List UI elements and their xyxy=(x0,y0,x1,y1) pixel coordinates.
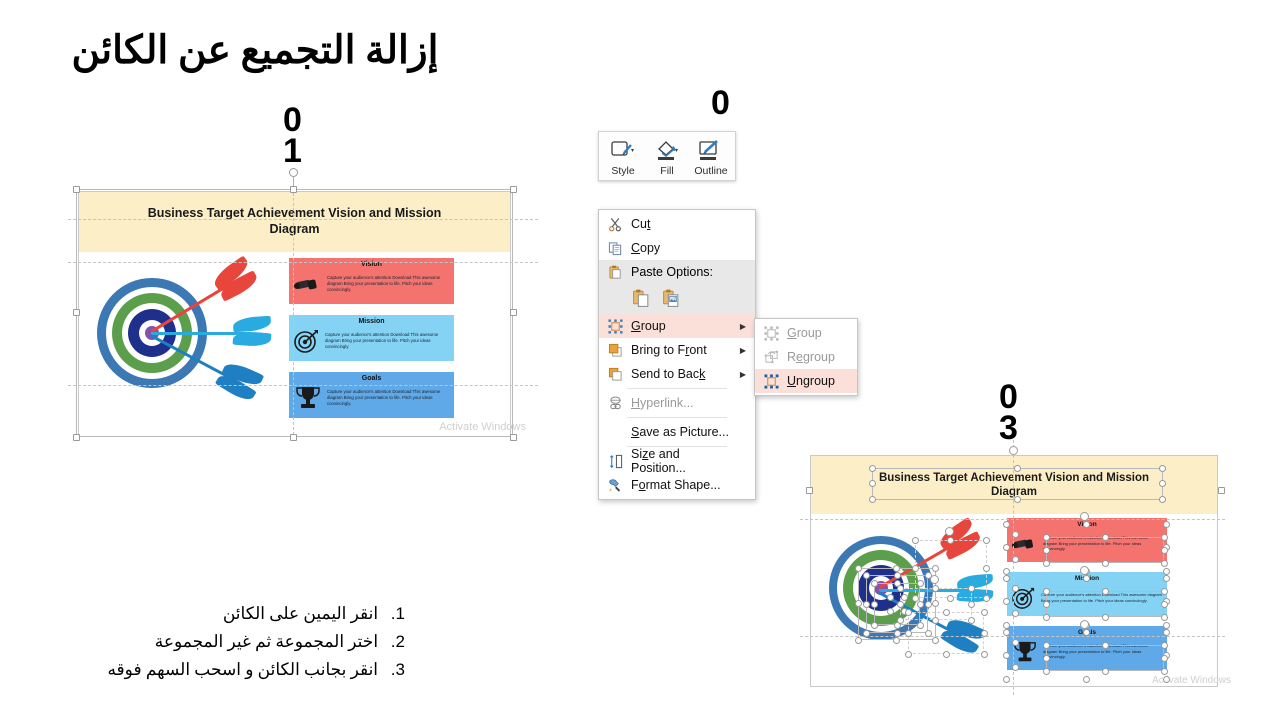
step-marker-01: 0 1 xyxy=(262,105,322,168)
left-handle-mr[interactable] xyxy=(510,309,517,316)
menu-item-size-and-position-label: Size and Position... xyxy=(627,447,737,475)
card-mission-title: Mission xyxy=(293,318,450,325)
diagram-grouped[interactable]: Business Target Achievement Vision and M… xyxy=(78,191,511,435)
step-02-top: 0 xyxy=(692,88,748,119)
step-marker-03: 0 3 xyxy=(980,382,1036,445)
step-03-top: 0 xyxy=(980,382,1036,413)
arrow-cyan xyxy=(151,330,281,334)
menu-item-group[interactable]: Group ▶ xyxy=(599,314,755,338)
bring-front-icon xyxy=(603,343,627,358)
menu-item-hyperlink-label: Hyperlink... xyxy=(627,396,737,410)
instruction-1-number: 1. xyxy=(391,604,405,623)
group-icon xyxy=(603,319,627,334)
menu-separator-2 xyxy=(627,417,727,418)
paste-picture-button[interactable] xyxy=(659,286,683,310)
menu-item-paste-options-label: Paste Options: xyxy=(627,265,737,279)
right-handle-mr[interactable] xyxy=(1218,487,1225,494)
fill-button[interactable]: Fill xyxy=(645,136,689,178)
step-01-top: 0 xyxy=(262,105,322,136)
shape-style-icon xyxy=(610,138,636,164)
instruction-1-text: انقر اليمين على الكائن xyxy=(223,604,378,623)
left-handle-ml[interactable] xyxy=(73,309,80,316)
ungroup-icon xyxy=(759,374,783,389)
card-vision[interactable]: Vision Capture your audience's attention… xyxy=(289,258,454,304)
outline-button[interactable]: Outline xyxy=(689,136,733,178)
copy-icon xyxy=(603,241,627,256)
instruction-2-number: 2. xyxy=(391,632,405,651)
outline-label: Outline xyxy=(694,165,727,177)
left-smart-guide-h2 xyxy=(68,262,538,263)
instruction-item-2: 2. اختر المجموعة ثم غير المجموعة xyxy=(107,628,405,656)
activate-windows-watermark: Activate Windows xyxy=(439,421,526,433)
microphone-icon xyxy=(293,275,323,293)
step-marker-02: 0 xyxy=(692,88,748,119)
menu-item-format-shape[interactable]: Format Shape... xyxy=(599,473,755,497)
group-submenu[interactable]: Group Regroup xyxy=(754,318,858,396)
card-mission[interactable]: Mission Capture your audience's attentio… xyxy=(289,315,454,361)
step-01-bottom: 1 xyxy=(262,136,322,167)
shape-outline-icon xyxy=(698,138,724,164)
send-back-icon xyxy=(603,367,627,382)
left-smart-guide-h1 xyxy=(68,219,538,220)
menu-item-send-to-back[interactable]: Send to Back ▶ xyxy=(599,362,755,386)
right-rotate-handle[interactable] xyxy=(1009,446,1018,455)
paste-keep-formatting-button[interactable] xyxy=(629,286,653,310)
slide-canvas: إزالة التجميع عن الكائن 0 1 Business Tar… xyxy=(0,0,1280,720)
regroup-icon xyxy=(759,350,783,365)
page-title: إزالة التجميع عن الكائن xyxy=(60,28,450,75)
diagram-banner: Business Target Achievement Vision and M… xyxy=(79,192,510,252)
right-handle-ml[interactable] xyxy=(806,487,813,494)
menu-item-bring-to-front-label: Bring to Front xyxy=(627,343,737,357)
step-03-bottom: 3 xyxy=(980,413,1036,444)
instruction-3-number: 3. xyxy=(391,660,405,679)
menu-item-hyperlink: Hyperlink... xyxy=(599,391,755,415)
menu-item-paste-options: Paste Options: xyxy=(599,260,755,284)
instruction-list: 1. انقر اليمين على الكائن 2. اختر المجمو… xyxy=(107,600,405,684)
left-handle-tc[interactable] xyxy=(290,186,297,193)
mini-toolbar[interactable]: Style Fill xyxy=(598,131,736,181)
menu-item-group-label: Group xyxy=(627,319,737,333)
left-smart-guide-h3 xyxy=(68,385,538,386)
left-handle-tl[interactable] xyxy=(73,186,80,193)
format-shape-icon xyxy=(603,478,627,493)
clipboard-icon xyxy=(603,265,627,280)
menu-item-size-and-position[interactable]: Size and Position... xyxy=(599,449,755,473)
instruction-2-text: اختر المجموعة ثم غير المجموعة xyxy=(155,632,378,651)
menu-item-copy-label: Copy xyxy=(627,241,737,255)
menu-item-bring-to-front[interactable]: Bring to Front ▶ xyxy=(599,338,755,362)
diagram-ungrouped[interactable]: Business Target Achievement Vision and M… xyxy=(810,455,1218,687)
submenu-arrow-send-back: ▶ xyxy=(737,370,749,379)
size-position-icon xyxy=(603,454,627,469)
left-handle-tr[interactable] xyxy=(510,186,517,193)
menu-separator-1 xyxy=(627,388,727,389)
menu-item-save-as-picture[interactable]: Save as Picture... xyxy=(599,420,755,444)
card-goals[interactable]: Goals Capture your audience's attention … xyxy=(289,372,454,418)
menu-item-cut-label: Cut xyxy=(627,217,737,231)
fill-bucket-icon xyxy=(654,138,680,164)
card-goals-title: Goals xyxy=(293,375,450,382)
card-mission-body: Capture your audience's attention Downlo… xyxy=(325,332,450,351)
context-menu[interactable]: Cut Copy Paste Options xyxy=(598,209,756,500)
submenu-item-ungroup[interactable]: Ungroup xyxy=(755,369,857,393)
style-label: Style xyxy=(611,165,634,177)
paste-options-row[interactable] xyxy=(599,284,755,314)
left-handle-br[interactable] xyxy=(510,434,517,441)
right-diagram-body: Vision Capture your audience's attention… xyxy=(811,514,1217,686)
right-smart-guide-v xyxy=(1013,440,1014,695)
menu-item-cut[interactable]: Cut xyxy=(599,212,755,236)
style-button[interactable]: Style xyxy=(601,136,645,178)
target-icon xyxy=(293,329,321,353)
menu-item-send-to-back-label: Send to Back xyxy=(627,367,737,381)
submenu-item-group-label: Group xyxy=(783,326,851,340)
submenu-item-regroup: Regroup xyxy=(755,345,857,369)
group-icon xyxy=(759,326,783,341)
card-vision-body: Capture your audience's attention Downlo… xyxy=(327,275,450,294)
instruction-item-3: 3. انقر بجانب الكائن و اسحب السهم فوقه xyxy=(107,656,405,684)
trophy-icon xyxy=(293,385,323,411)
left-handle-bc[interactable] xyxy=(290,434,297,441)
fill-label: Fill xyxy=(660,165,673,177)
left-smart-guide-v xyxy=(293,178,294,440)
instruction-3-text: انقر بجانب الكائن و اسحب السهم فوقه xyxy=(107,660,378,679)
submenu-item-regroup-label: Regroup xyxy=(783,350,851,364)
submenu-arrow-bring-front: ▶ xyxy=(737,346,749,355)
left-rotate-handle[interactable] xyxy=(289,168,298,177)
menu-item-copy[interactable]: Copy xyxy=(599,236,755,260)
submenu-item-group: Group xyxy=(755,321,857,345)
scissors-icon xyxy=(603,217,627,232)
card-goals-body: Capture your audience's attention Downlo… xyxy=(327,389,450,408)
submenu-item-ungroup-label: Ungroup xyxy=(783,374,851,388)
left-handle-bl[interactable] xyxy=(73,434,80,441)
diagram-body: Vision Capture your audience's attention… xyxy=(79,252,510,435)
menu-item-format-shape-label: Format Shape... xyxy=(627,478,737,492)
instruction-item-1: 1. انقر اليمين على الكائن xyxy=(107,600,405,628)
menu-item-save-as-picture-label: Save as Picture... xyxy=(627,425,737,439)
diagram-banner-title: Business Target Achievement Vision and M… xyxy=(79,206,510,237)
submenu-arrow-group: ▶ xyxy=(737,322,749,331)
right-smart-guide-h1 xyxy=(800,519,1225,520)
hyperlink-icon xyxy=(603,396,627,411)
